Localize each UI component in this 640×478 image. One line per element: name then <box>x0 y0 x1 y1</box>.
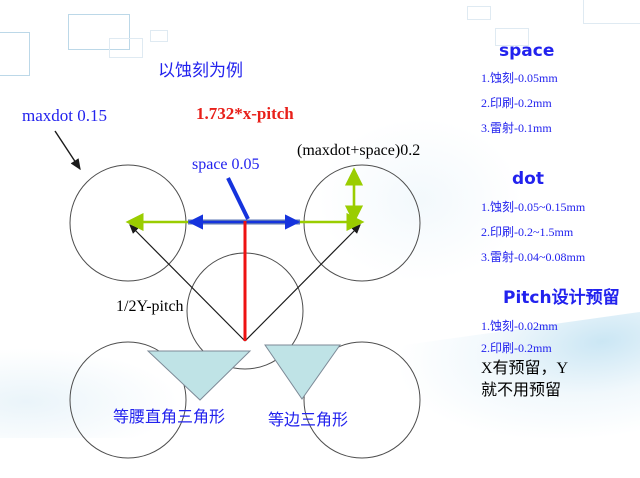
triangle-equilateral <box>265 345 340 399</box>
panel-item-space-1: 1.蚀刻-0.05mm <box>481 69 558 86</box>
panel-item-space-3: 3.雷射-0.1mm <box>481 119 552 136</box>
half-y-pitch-label: 1/2Y-pitch <box>116 298 184 316</box>
panel-item-dot-1: 1.蚀刻-0.05~0.15mm <box>481 198 585 215</box>
space-value-label: space 0.05 <box>192 156 260 174</box>
panel-note: X有预留，Y 就不用预留 <box>481 358 568 401</box>
triangle-isosceles-right <box>148 351 250 400</box>
space-pointer-line <box>228 178 248 219</box>
maxdot-pointer-arrow <box>55 131 80 169</box>
triangle-left-label: 等腰直角三角形 <box>113 408 225 426</box>
panel-item-space-2: 2.印刷-0.2mm <box>481 94 552 111</box>
panel-heading-dot: dot <box>512 169 544 189</box>
pitch-formula-label: 1.732*x-pitch <box>196 104 294 124</box>
slide-canvas: 以蚀刻为例 maxdot 0.15 1.732*x-pitch space 0.… <box>0 0 640 478</box>
diagonal-arrow-left <box>130 225 245 341</box>
diagonal-arrow-right <box>245 225 360 341</box>
triangle-right-label: 等边三角形 <box>268 411 348 429</box>
panel-item-dot-3: 3.雷射-0.04~0.08mm <box>481 248 585 265</box>
panel-item-pitch-1: 1.蚀刻-0.02mm <box>481 317 558 334</box>
maxdot-label-text: maxdot 0.15 <box>22 106 107 125</box>
space-value-text: space 0.05 <box>192 156 260 173</box>
panel-item-pitch-2: 2.印刷-0.2mm <box>481 339 552 356</box>
etching-example-label: 以蚀刻为例 <box>158 62 243 82</box>
panel-item-dot-2: 2.印刷-0.2~1.5mm <box>481 223 573 240</box>
maxdot-label: maxdot 0.15 <box>22 106 107 126</box>
panel-heading-pitch: Pitch设计预留 <box>503 283 620 308</box>
panel-heading-space: space <box>499 41 554 61</box>
maxdot-space-label: (maxdot+space)0.2 <box>297 142 420 160</box>
